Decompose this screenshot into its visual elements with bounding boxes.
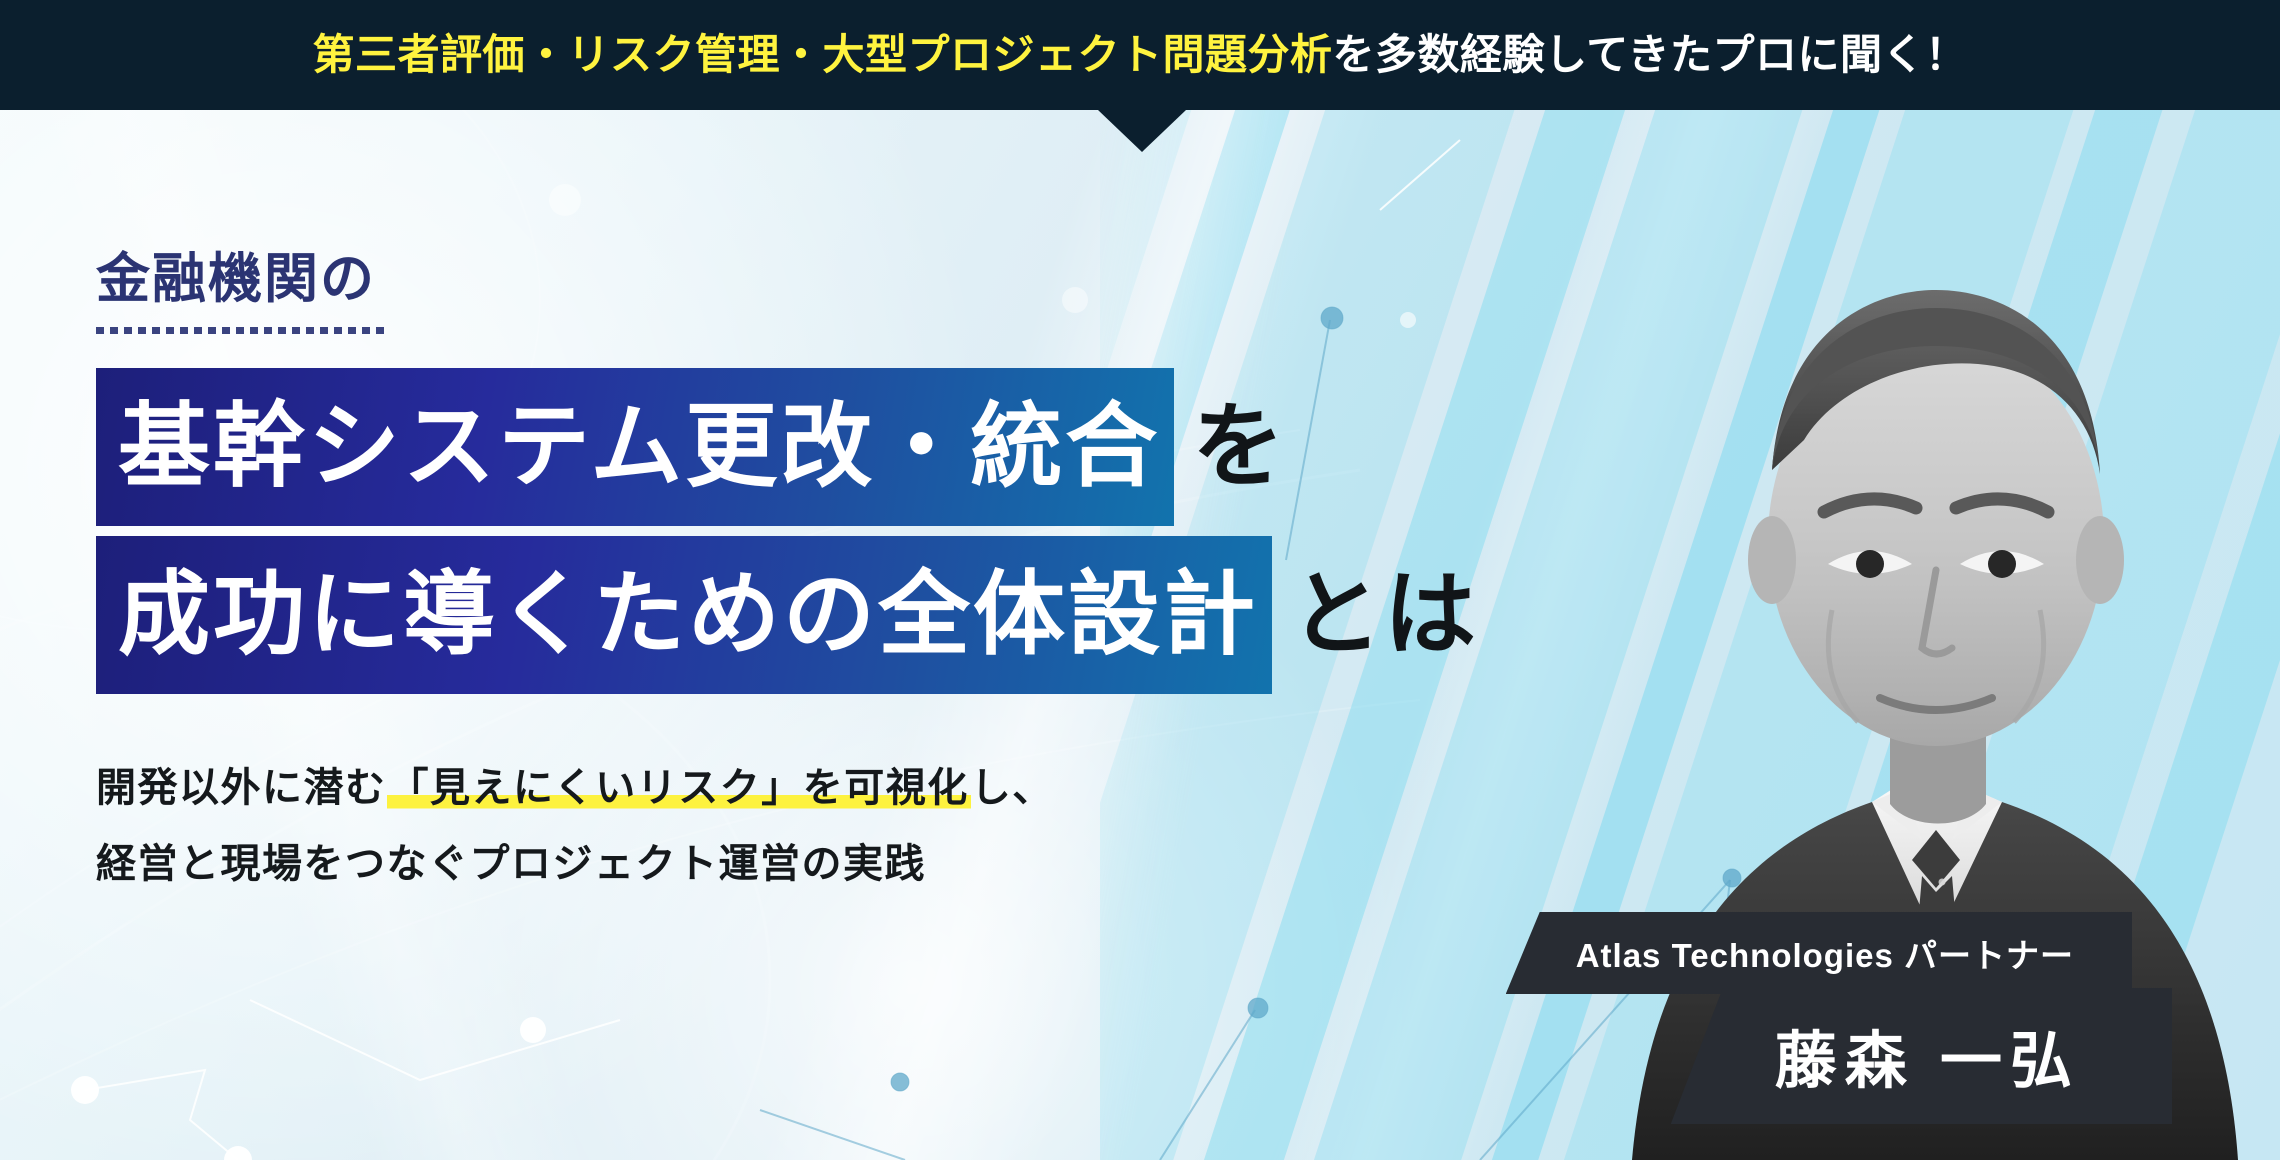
main-headline: 基幹システム更改・統合 を 成功に導くための全体設計 とは	[96, 368, 1478, 694]
subtitle-line-1: 開発以外に潜む「見えにくいリスク」を可視化し、	[96, 750, 1478, 826]
subtitle-block: 開発以外に潜む「見えにくいリスク」を可視化し、 経営と現場をつなぐプロジェクト運…	[96, 750, 1478, 902]
subtitle-line-1-marked: 「見えにくいリスク」を可視化	[387, 766, 971, 810]
headline-line-1-tail: を	[1174, 401, 1286, 493]
top-banner: 第三者評価・リスク管理・大型プロジェクト問題分析を多数経験してきたプロに聞く！	[0, 0, 2280, 110]
top-banner-highlight: 第三者評価・リスク管理・大型プロジェクト問題分析	[313, 31, 1333, 78]
speaker-role-plate: Atlas Technologies パートナー	[1506, 912, 2132, 994]
subtitle-line-1-post: し、	[971, 766, 1054, 810]
headline-line-2: 成功に導くための全体設計 とは	[96, 536, 1478, 694]
top-banner-plain: を多数経験してきたプロに聞く！	[1333, 31, 1968, 78]
headline-block: 金融機関の 基幹システム更改・統合 を 成功に導くための全体設計 とは 開発以外…	[96, 250, 1478, 902]
speaker-name-plate: 藤森 一弘	[1671, 988, 2172, 1124]
headline-line-2-band: 成功に導くための全体設計	[96, 536, 1272, 694]
eyebrow-dotted-rule	[96, 327, 386, 334]
headline-line-1: 基幹システム更改・統合 を	[96, 368, 1478, 526]
headline-line-2-tail: とは	[1272, 569, 1478, 661]
top-banner-text: 第三者評価・リスク管理・大型プロジェクト問題分析を多数経験してきたプロに聞く！	[313, 34, 1968, 76]
webinar-banner: 第三者評価・リスク管理・大型プロジェクト問題分析を多数経験してきたプロに聞く！ …	[0, 0, 2280, 1160]
subtitle-line-2: 経営と現場をつなぐプロジェクト運営の実践	[96, 826, 1478, 902]
top-banner-notch-icon	[1098, 110, 1186, 152]
headline-line-1-band: 基幹システム更改・統合	[96, 368, 1174, 526]
eyebrow-text: 金融機関の	[96, 250, 1478, 309]
subtitle-line-1-pre: 開発以外に潜む	[96, 766, 387, 810]
